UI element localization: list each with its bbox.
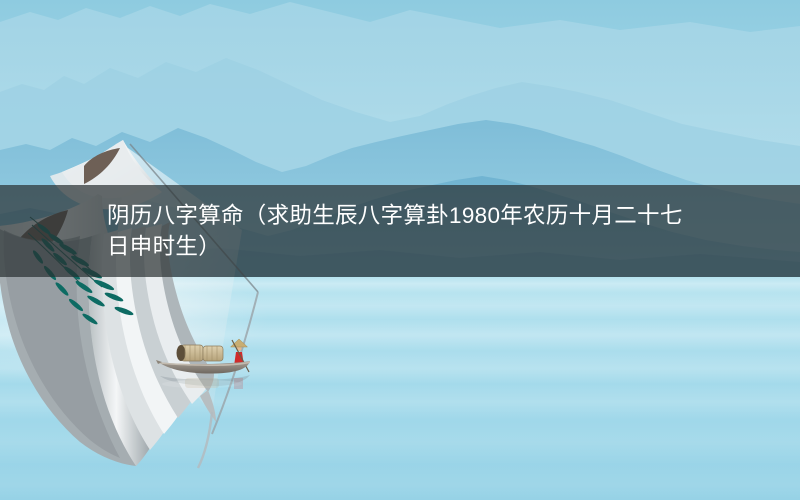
title-overlay-band: 阴历八字算命（求助生辰八字算卦1980年农历十月二十七日申时生） <box>0 185 800 277</box>
cover-image-canvas: 阴历八字算命（求助生辰八字算卦1980年农历十月二十七日申时生） <box>0 0 800 500</box>
river-boat-illustration <box>152 332 272 402</box>
page-title: 阴历八字算命（求助生辰八字算卦1980年农历十月二十七日申时生） <box>0 200 800 262</box>
